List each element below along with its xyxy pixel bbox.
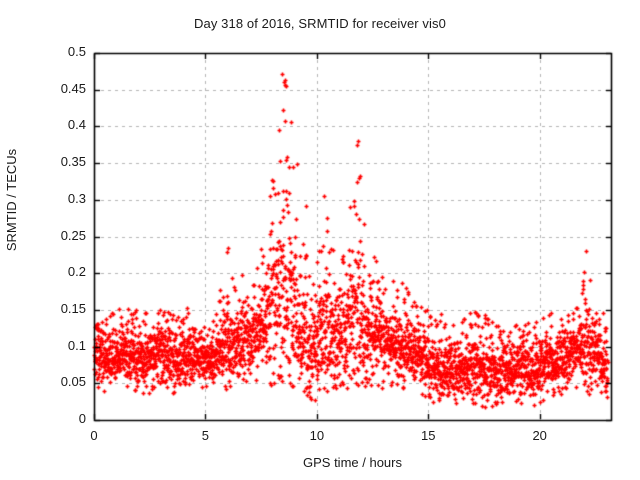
y-tick-label: 0.4	[30, 117, 86, 132]
y-tick-label: 0.45	[30, 81, 86, 96]
y-tick-label: 0.25	[30, 228, 86, 243]
chart-container: Day 318 of 2016, SRMTID for receiver vis…	[0, 0, 640, 480]
y-tick-label: 0.05	[30, 374, 86, 389]
x-axis-label: GPS time / hours	[94, 455, 611, 470]
x-tick-label: 10	[297, 428, 337, 443]
x-tick-label: 15	[408, 428, 448, 443]
y-tick-label: 0.5	[30, 44, 86, 59]
x-tick-label: 20	[520, 428, 560, 443]
y-tick-label: 0.2	[30, 264, 86, 279]
x-tick-label: 5	[185, 428, 225, 443]
y-tick-label: 0.3	[30, 191, 86, 206]
y-tick-label: 0.35	[30, 154, 86, 169]
y-tick-label: 0	[30, 411, 86, 426]
scatter-plot-canvas	[0, 0, 640, 480]
y-tick-label: 0.15	[30, 301, 86, 316]
y-tick-label: 0.1	[30, 338, 86, 353]
x-tick-label: 0	[74, 428, 114, 443]
